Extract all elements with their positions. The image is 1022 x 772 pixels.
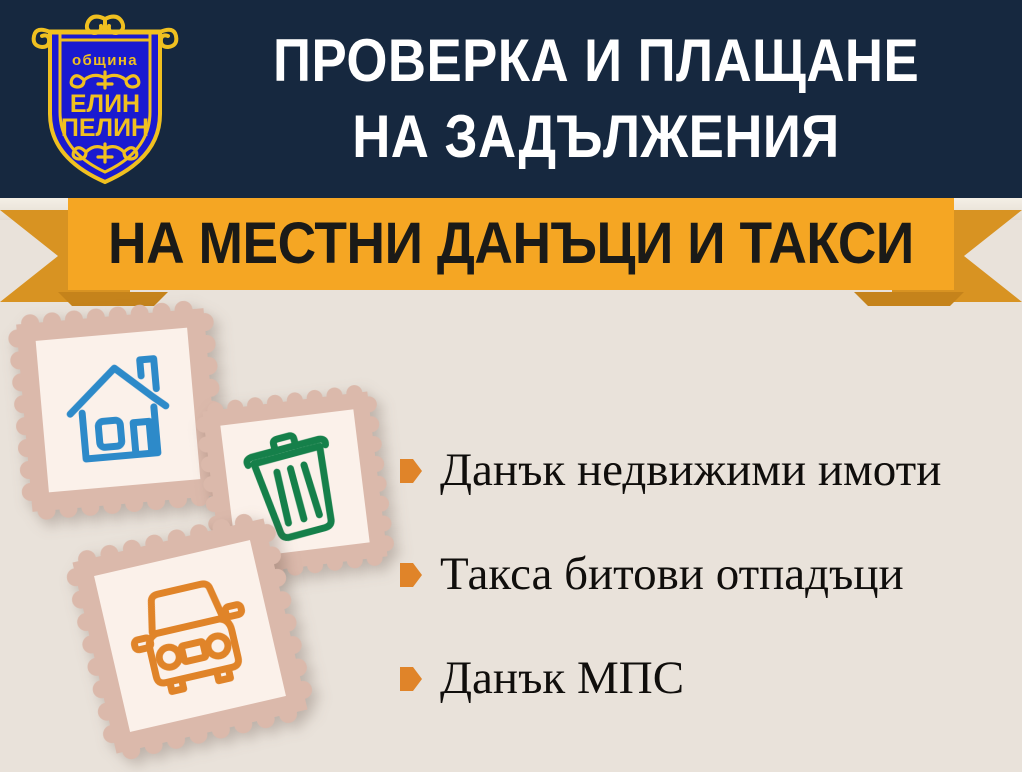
- list-item[interactable]: Данък недвижими имоти: [400, 418, 1015, 522]
- ribbon-strip: НА МЕСТНИ ДАНЪЦИ И ТАКСИ: [68, 198, 954, 290]
- coat-of-arms-icon: община ЕЛИН ПЕЛИН: [22, 6, 188, 192]
- arrow-bullet-icon: [400, 666, 422, 692]
- tax-types-list: Данък недвижими имоти Такса битови отпад…: [400, 418, 1015, 730]
- list-item-label: Данък МПС: [440, 652, 684, 704]
- list-item-label: Данък недвижими имоти: [440, 444, 941, 496]
- page-title-line-1: ПРОВЕРКА И ПЛАЩАНЕ: [273, 23, 919, 99]
- page-title: ПРОВЕРКА И ПЛАЩАНЕ НА ЗАДЪЛЖЕНИЯ: [186, 16, 1006, 182]
- ribbon-fold-right: [854, 292, 964, 306]
- arrow-bullet-icon: [400, 458, 422, 484]
- list-item-label: Такса битови отпадъци: [440, 548, 904, 600]
- list-item[interactable]: Такса битови отпадъци: [400, 522, 1015, 626]
- ribbon-banner: НА МЕСТНИ ДАНЪЦИ И ТАКСИ: [0, 196, 1022, 308]
- page-title-line-2: НА ЗАДЪЛЖЕНИЯ: [352, 99, 839, 175]
- crest-small-label: община: [72, 52, 138, 69]
- ribbon-subtitle: НА МЕСТНИ ДАНЪЦИ И ТАКСИ: [108, 215, 914, 273]
- list-item[interactable]: Данък МПС: [400, 626, 1015, 730]
- arrow-bullet-icon: [400, 562, 422, 588]
- crest-line-2: ПЕЛИН: [61, 114, 149, 142]
- poster-canvas: ПРОВЕРКА И ПЛАЩАНЕ НА ЗАДЪЛЖЕНИЯ община: [0, 0, 1022, 772]
